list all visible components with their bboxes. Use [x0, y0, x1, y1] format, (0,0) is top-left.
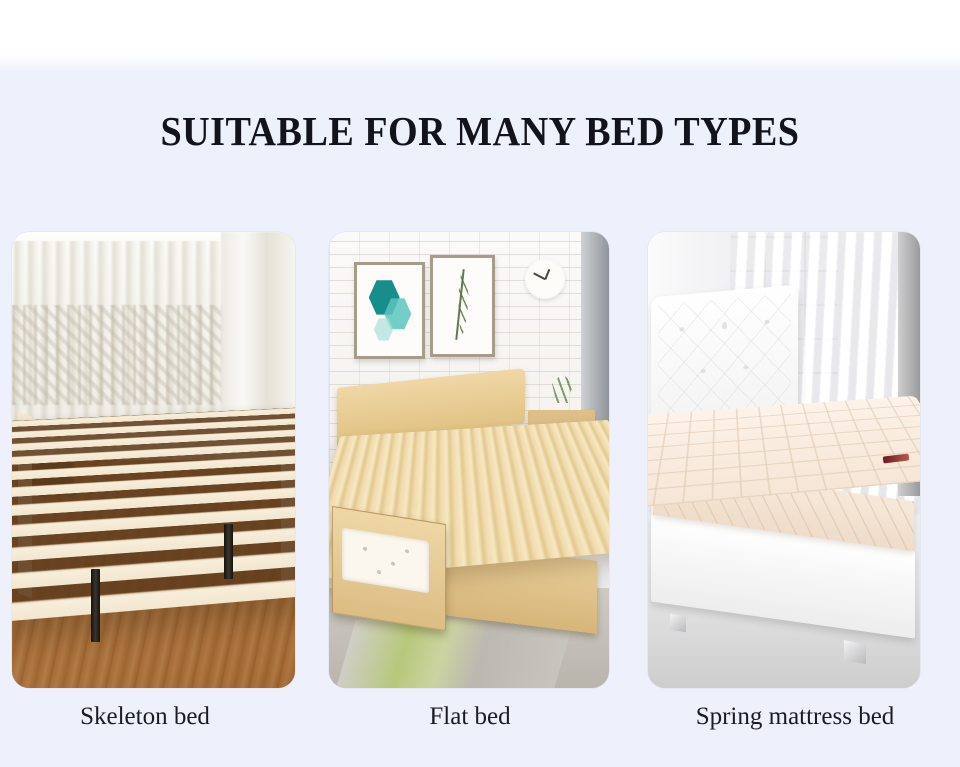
wooden-slat-frame — [12, 407, 295, 632]
bed-type-image-flat-bed[interactable] — [329, 232, 609, 688]
promotional-banner: SUITABLE FOR MANY BED TYPES — [0, 0, 960, 767]
lace-pattern-icon — [12, 305, 227, 405]
area-rug — [336, 620, 574, 688]
framed-art-hexagons — [354, 262, 424, 359]
bed-leg-back — [224, 524, 233, 579]
spring-mattress-bed-photo — [648, 232, 920, 688]
caption-flat-bed: Flat bed — [330, 703, 610, 731]
caption-spring-mattress-bed: Spring mattress bed — [650, 703, 940, 731]
fern-leaf-icon — [450, 271, 476, 340]
framed-art-fern — [430, 255, 495, 357]
folded-linens — [342, 527, 429, 593]
skeleton-bed-photo — [12, 232, 295, 688]
caption-row: Skeleton bed Flat bed Spring mattress be… — [0, 703, 960, 747]
storage-drawer — [332, 506, 446, 631]
flat-bed-photo — [329, 232, 609, 688]
chrome-foot-left — [670, 614, 686, 633]
bed-type-image-skeleton-bed[interactable] — [12, 232, 295, 688]
bed-leg-front — [91, 569, 100, 642]
page-title: SUITABLE FOR MANY BED TYPES — [34, 107, 927, 155]
caption-skeleton-bed: Skeleton bed — [0, 703, 290, 731]
chrome-foot-right — [844, 640, 866, 664]
bed-type-panel-row — [0, 232, 960, 690]
bed-type-image-spring-mattress-bed[interactable] — [648, 232, 920, 688]
